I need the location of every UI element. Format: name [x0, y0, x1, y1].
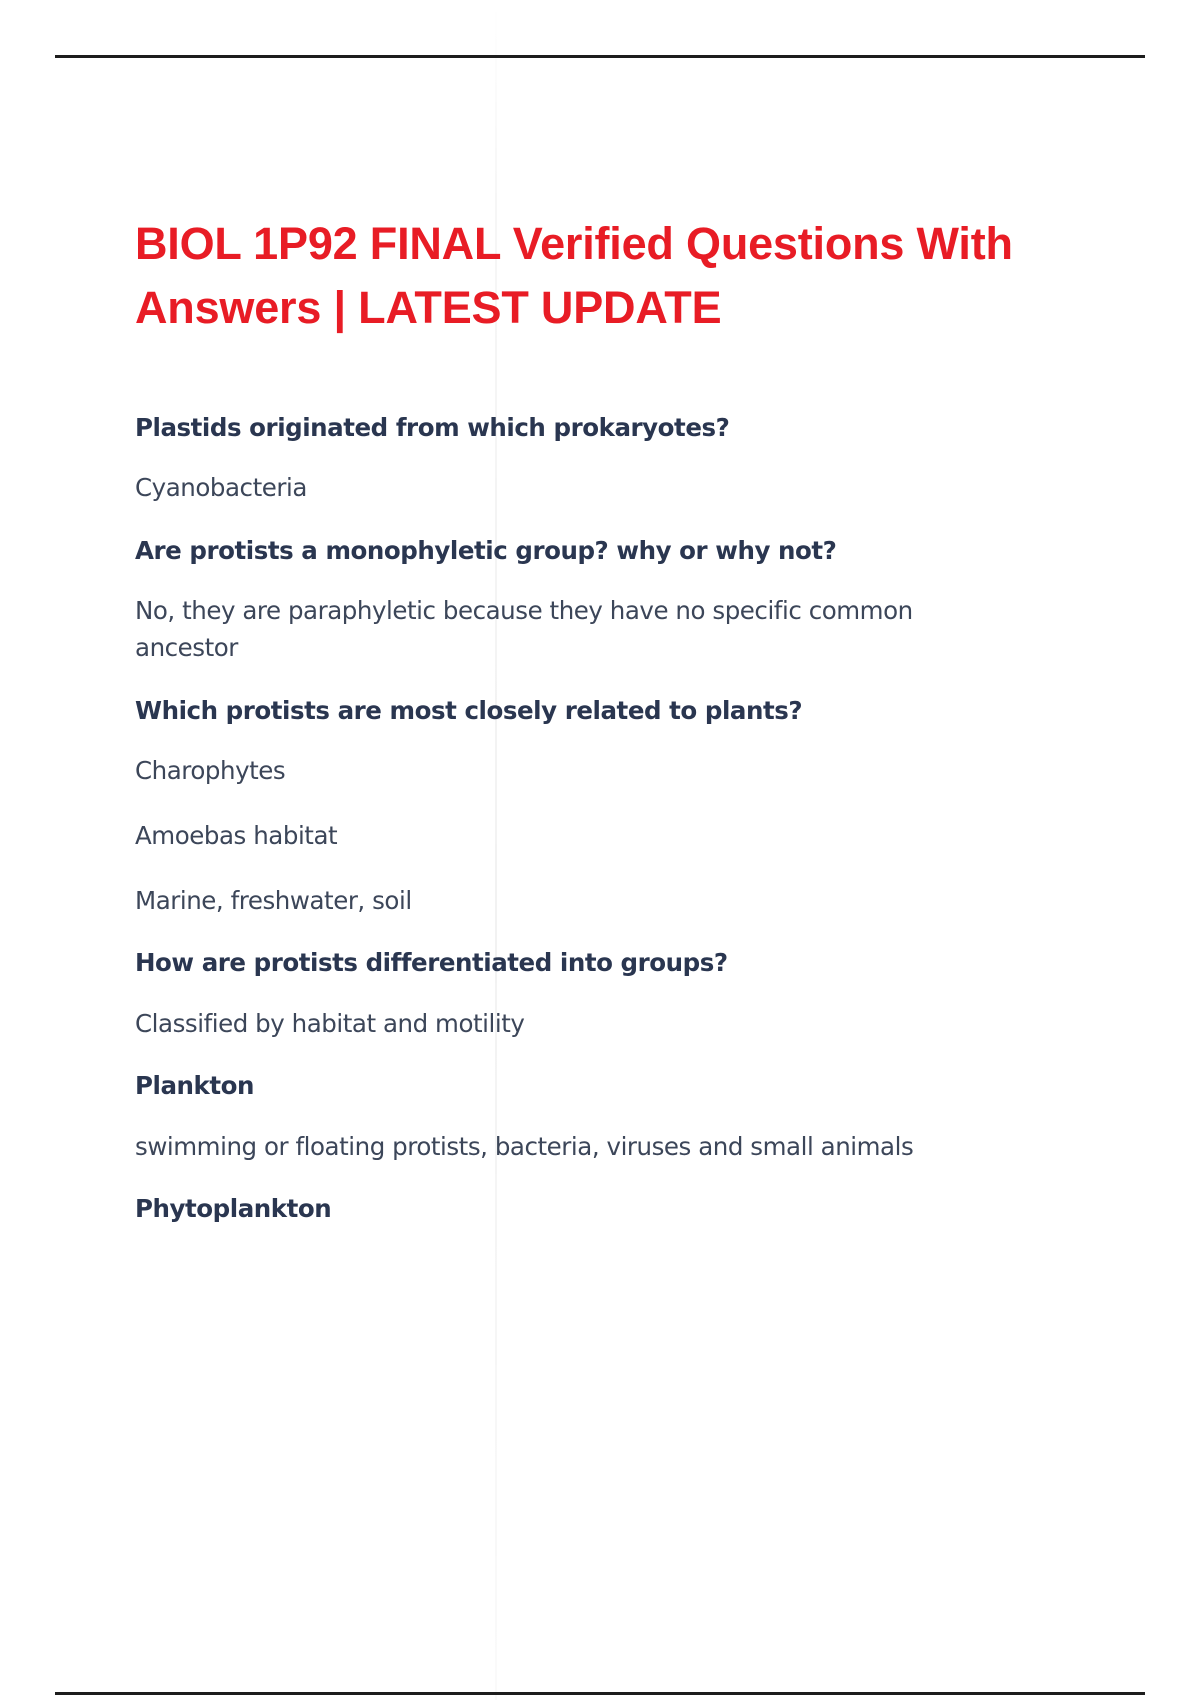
- qa-item: Plankton swimming or floating protists, …: [135, 1070, 1015, 1165]
- question-text: Plankton: [135, 1070, 995, 1102]
- question-text: Amoebas habitat: [135, 818, 935, 855]
- question-text: Which protists are most closely related …: [135, 695, 995, 727]
- top-divider-rule: [55, 55, 1145, 58]
- answer-text: swimming or floating protists, bacteria,…: [135, 1129, 925, 1166]
- question-text: Phytoplankton: [135, 1193, 995, 1225]
- answer-text: Cyanobacteria: [135, 470, 935, 507]
- answer-text: No, they are paraphyletic because they h…: [135, 593, 925, 667]
- document-content: BIOL 1P92 FINAL Verified Questions With …: [135, 212, 1015, 1252]
- bottom-divider-rule: [55, 1692, 1145, 1695]
- answer-text: Charophytes: [135, 753, 935, 790]
- question-text: How are protists differentiated into gro…: [135, 947, 995, 979]
- page-title: BIOL 1P92 FINAL Verified Questions With …: [135, 212, 1015, 340]
- question-answer-list: Plastids originated from which prokaryot…: [135, 412, 1015, 1226]
- qa-item: How are protists differentiated into gro…: [135, 947, 1015, 1042]
- document-page: BIOL 1P92 FINAL Verified Questions With …: [0, 0, 1200, 1700]
- qa-item: Are protists a monophyletic group? why o…: [135, 535, 1015, 667]
- question-text: Are protists a monophyletic group? why o…: [135, 535, 995, 567]
- qa-item: Amoebas habitat Marine, freshwater, soil: [135, 818, 1015, 920]
- question-text: Plastids originated from which prokaryot…: [135, 412, 995, 444]
- qa-item: Which protists are most closely related …: [135, 695, 1015, 790]
- qa-item: Plastids originated from which prokaryot…: [135, 412, 1015, 507]
- answer-text: Marine, freshwater, soil: [135, 883, 935, 920]
- answer-text: Classified by habitat and motility: [135, 1006, 935, 1043]
- qa-item: Phytoplankton: [135, 1193, 1015, 1225]
